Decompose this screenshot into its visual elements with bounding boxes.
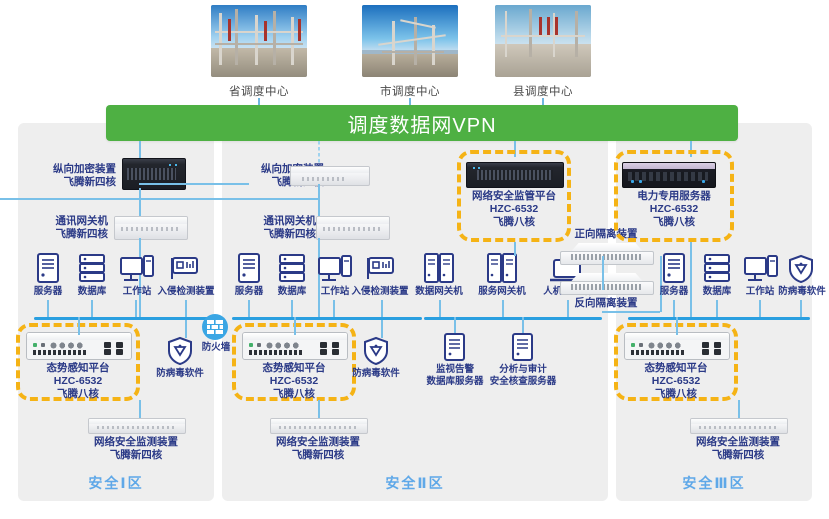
- zone1-database-label: 数据库: [68, 286, 116, 298]
- zone1-encryptor-stem: [139, 188, 141, 216]
- vpn-drop-zone2: [318, 141, 320, 165]
- supervision-platform-device: [466, 162, 564, 188]
- dispatch-center-1: 省调度中心: [211, 5, 307, 99]
- zone1-antivirus-icon: [166, 336, 194, 366]
- zone3-stem-antivirus: [800, 300, 802, 318]
- forward-isolation-device: [560, 243, 654, 265]
- zone2-gateway-label: 通讯网关机 飞腾新四核: [236, 215, 316, 241]
- zone3-platform-stem: [676, 317, 678, 335]
- zone2-stem-workstation: [333, 300, 335, 318]
- dispatch-center-label: 省调度中心: [211, 83, 307, 99]
- zone1-monitor-label: 网络安全监测装置 飞腾新四核: [76, 436, 196, 462]
- substation-photo-icon: [362, 5, 458, 77]
- zone1-intrusion-detection-label: 入侵检测装置: [153, 286, 219, 298]
- zone1-gateway-device: [114, 216, 188, 240]
- network-topology-diagram: 省调度中心 市调度中心 县调度中心: [0, 0, 829, 519]
- zone3-database-icon: [703, 253, 731, 283]
- zone2-stem-server: [248, 300, 250, 318]
- zone2-server-label: 服务器: [225, 286, 273, 298]
- zone2-platform-label: 态势感知平台 HZC-6532 飞腾八核: [232, 362, 356, 401]
- zone1-database-icon: [78, 253, 106, 283]
- zone2-platform-stem: [294, 317, 296, 335]
- vpn-bar-label: 调度数据网VPN: [347, 109, 496, 138]
- zone1-antivirus-label: 防病毒软件: [150, 368, 210, 380]
- firewall-icon: [202, 314, 228, 340]
- zone1-encryptor-label: 纵向加密装置 飞腾新四核: [28, 163, 116, 189]
- zone2-encryptor-crossfeed: [0, 198, 318, 200]
- zone2-audit-server-1-label: 监视告警 数据库服务器: [420, 364, 490, 388]
- zone1-workstation-icon: [120, 255, 154, 283]
- zone1-encryptor-crossfeed: [139, 183, 249, 185]
- zone2-stem-database: [291, 300, 293, 318]
- zone3-platform-label: 态势感知平台 HZC-6532 飞腾八核: [614, 362, 738, 401]
- zone1-server-label: 服务器: [24, 286, 72, 298]
- zone1-stem-database: [91, 300, 93, 318]
- dispatch-center-3: 县调度中心: [495, 5, 591, 99]
- zone2-service-gateway-label: 服务网关机: [469, 286, 535, 298]
- zone3-stem-database: [716, 300, 718, 318]
- zone-label-2: 安全Ⅱ区: [222, 473, 608, 493]
- zone2-stem-service-gateway: [502, 300, 504, 318]
- power-server-device: [622, 162, 716, 188]
- zone2-monitor-device: [270, 418, 368, 434]
- zone1-monitor-stem: [139, 400, 141, 418]
- zone2-monitor-label: 网络安全监测装置 飞腾新四核: [258, 436, 378, 462]
- substation-photo-icon: [211, 5, 307, 77]
- zone2-platform-device: [242, 332, 348, 360]
- zone2-audit2-stem: [522, 317, 524, 333]
- zone3-server-icon: [662, 253, 686, 283]
- supervision-platform-stem: [514, 242, 516, 256]
- zone1-encryptor-device: [122, 158, 186, 190]
- zone2-left-bus: [232, 317, 422, 320]
- zone2-data-gateway-icon: [424, 253, 454, 283]
- zone3-stem-workstation: [759, 300, 761, 318]
- zone1-stem-server: [47, 300, 49, 318]
- zone2-audit-server-2-icon: [511, 333, 534, 361]
- zone3-antivirus-label: 防病毒软件: [772, 286, 829, 298]
- zone3-stem-server: [673, 300, 675, 318]
- zone1-platform-label: 态势感知平台 HZC-6532 飞腾八核: [16, 362, 140, 401]
- zone3-bus: [628, 317, 810, 320]
- zone2-stem-data-gateway: [439, 300, 441, 318]
- zone1-server-icon: [36, 253, 60, 283]
- zone3-monitor-device: [690, 418, 788, 434]
- dispatch-center-label: 市调度中心: [362, 83, 458, 99]
- zone3-antivirus-icon: [787, 254, 815, 284]
- power-server-stem: [690, 242, 692, 318]
- zone2-service-gateway-icon: [487, 253, 517, 283]
- zone2-encryptor-stem: [318, 184, 320, 216]
- zone3-server-label: 服务器: [650, 286, 698, 298]
- zone2-encryptor-device: [290, 166, 370, 186]
- zone3-workstation-icon: [744, 255, 778, 283]
- zone2-antivirus-icon: [362, 336, 390, 366]
- isolation-left-rail: [602, 256, 604, 290]
- firewall-label: 防火墙: [196, 342, 236, 354]
- zone2-database-icon: [278, 253, 306, 283]
- zone2-intrusion-detection-label: 入侵检测装置: [347, 286, 413, 298]
- zone2-monitor-stem: [318, 400, 320, 418]
- zone1-platform-device: [26, 332, 132, 360]
- zone2-antivirus-label: 防病毒软件: [346, 368, 406, 380]
- zone2-gateway-device: [316, 216, 390, 240]
- power-server-label: 电力专用服务器 HZC-6532 飞腾八核: [614, 190, 734, 229]
- zone2-server-icon: [237, 253, 261, 283]
- zone1-stem-workstation: [135, 300, 137, 318]
- zone2-intrusion-detection-icon: [365, 256, 395, 282]
- zone-label-3: 安全Ⅲ区: [616, 473, 812, 493]
- dispatch-center-2: 市调度中心: [362, 5, 458, 99]
- isolation-left-feed: [602, 311, 660, 313]
- dispatch-center-label: 县调度中心: [495, 83, 591, 99]
- zone3-monitor-label: 网络安全监测装置 飞腾新四核: [678, 436, 798, 462]
- zone1-bus: [34, 317, 220, 320]
- zone1-platform-stem: [78, 317, 80, 335]
- zone3-monitor-stem: [738, 400, 740, 418]
- zone2-data-gateway-label: 数据网关机: [406, 286, 472, 298]
- zone1-monitor-device: [88, 418, 186, 434]
- zone2-right-bus: [424, 317, 602, 320]
- zone2-audit-server-2-label: 分析与审计 安全核查服务器: [488, 364, 558, 388]
- zone3-database-label: 数据库: [693, 286, 741, 298]
- zone-label-1: 安全Ⅰ区: [18, 473, 214, 493]
- reverse-isolation-label: 反向隔离装置: [556, 297, 656, 310]
- zone1-gateway-label: 通讯网关机 飞腾新四核: [28, 215, 108, 241]
- zone2-audit-server-1-icon: [443, 333, 466, 361]
- zone2-database-label: 数据库: [268, 286, 316, 298]
- zone3-platform-device: [624, 332, 730, 360]
- supervision-platform-label: 网络安全监管平台 HZC-6532 飞腾八核: [457, 190, 571, 229]
- zone2-workstation-icon: [318, 255, 352, 283]
- dispatch-data-network-vpn-bar: 调度数据网VPN: [106, 105, 738, 141]
- zone1-intrusion-detection-icon: [169, 256, 199, 282]
- zone2-audit1-stem: [454, 317, 456, 333]
- substation-photo-icon: [495, 5, 591, 77]
- reverse-isolation-device: [560, 273, 654, 295]
